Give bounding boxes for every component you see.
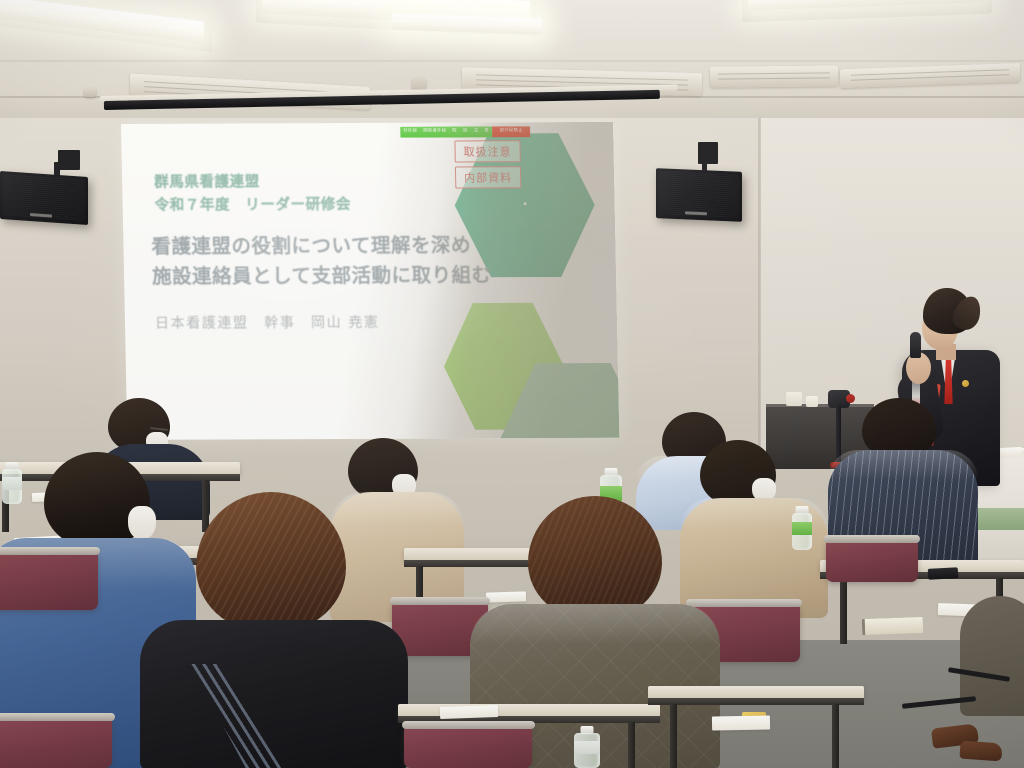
banner-label: 関係者外秘 xyxy=(423,130,446,135)
banner-label: 意 xyxy=(484,130,489,134)
stamp-text: 取扱注意 xyxy=(464,146,512,157)
wall-speaker-right xyxy=(650,142,748,232)
wall-speaker-left xyxy=(0,150,92,230)
slide-title-line-1: 看護連盟の役割について理解を深め xyxy=(151,230,522,262)
water-bottle xyxy=(2,462,22,504)
handheld-microphone xyxy=(910,332,921,358)
slide-title-line-2: 施設連絡員として支部活動に取り組む xyxy=(152,260,523,292)
table-row-front-right xyxy=(648,686,864,768)
lapel-pin xyxy=(962,380,969,387)
slide-subtitle-line-2: 令和７年度 リーダー研修会 xyxy=(154,194,485,219)
slide-title: 看護連盟の役割について理解を深め 施設連絡員として支部活動に取り組む xyxy=(151,230,522,292)
chair xyxy=(404,724,532,768)
ceiling-vent xyxy=(710,65,838,87)
attendee-hair xyxy=(528,496,662,620)
wall-corner-edge xyxy=(758,118,761,468)
handout-paper xyxy=(440,705,498,719)
ceiling-seam xyxy=(0,60,1024,62)
banner-label: 社外秘 xyxy=(403,130,417,134)
seminar-room-photo: 社外秘 関係者外秘 取 扱 注 意 部外秘禁止 取扱注意 内部資料 群馬県看護連… xyxy=(0,0,1024,768)
chair xyxy=(826,538,918,582)
banner-label: 扱 xyxy=(463,130,468,134)
smartphone xyxy=(928,567,959,580)
stamp-handling-caution: 取扱注意 xyxy=(454,140,520,162)
shoe xyxy=(959,741,1002,762)
chair xyxy=(0,716,112,768)
handout-paper xyxy=(486,591,526,602)
slide-subtitle: 群馬県看護連盟 令和７年度 リーダー研修会 xyxy=(154,170,485,218)
attendee-hair xyxy=(196,492,346,632)
classification-banner: 社外秘 関係者外秘 取 扱 注 意 部外秘禁止 xyxy=(400,126,530,138)
chair xyxy=(0,550,98,610)
banner-label: 注 xyxy=(474,130,479,134)
water-bottle xyxy=(574,726,600,768)
ceiling-sprinkler xyxy=(84,88,96,97)
banner-label: 取 xyxy=(452,130,457,134)
paper-cup xyxy=(786,392,802,406)
attendee-black-top xyxy=(140,620,408,768)
slide-subtitle-line-1: 群馬県看護連盟 xyxy=(154,170,485,195)
face-mask xyxy=(128,506,156,540)
notebook xyxy=(862,617,924,635)
banner-label-restricted: 部外秘禁止 xyxy=(500,130,523,135)
hexagon-decoration-bottom xyxy=(498,360,620,440)
projection-screen: 社外秘 関係者外秘 取 扱 注 意 部外秘禁止 取扱注意 内部資料 群馬県看護連… xyxy=(121,122,619,440)
slide-presenter-credit: 日本看護連盟 幹事 岡山 尭憲 xyxy=(155,312,485,334)
paper-cup xyxy=(806,396,818,407)
green-tea-bottle xyxy=(792,506,812,550)
